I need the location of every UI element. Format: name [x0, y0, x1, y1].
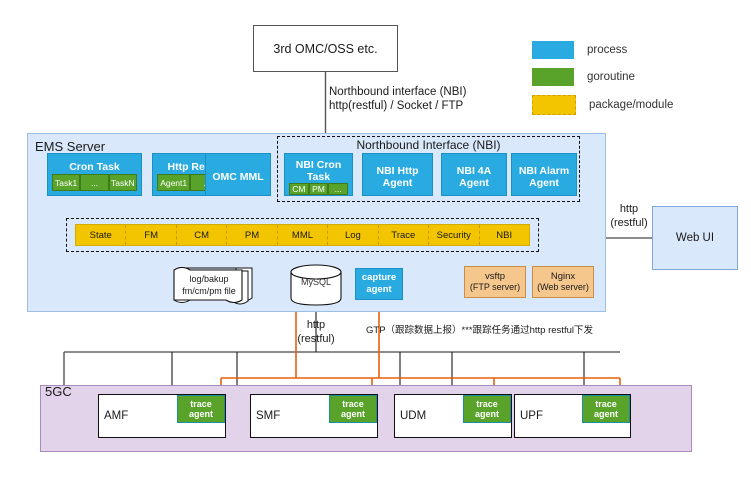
nf-smf-label: SMF: [256, 410, 280, 422]
third-party-omc-oss-box[interactable]: 3rd OMC/OSS etc.: [253, 25, 398, 72]
process-nbi-alarm-agent[interactable]: NBI Alarm Agent: [511, 153, 577, 196]
nf-amf-label: AMF: [104, 410, 128, 422]
module-bar: State FM CM PM MML Log Trace Security NB…: [75, 224, 530, 246]
legend-item-goroutine: goroutine: [532, 68, 742, 86]
goroutine-task1[interactable]: Task1: [52, 174, 80, 191]
module-security[interactable]: Security: [429, 225, 479, 245]
nginx-name: Nginx: [551, 271, 575, 282]
third-party-omc-oss-label: 3rd OMC/OSS etc.: [273, 42, 377, 56]
vsftp-role: (FTP server): [470, 282, 520, 293]
legend: process goroutine package/module: [532, 41, 742, 124]
vsftp-server-box[interactable]: vsftp (FTP server): [464, 266, 526, 298]
file-label-line2: fm/cm/pm file: [182, 285, 236, 297]
diagram-canvas: 3rd OMC/OSS etc. Northbound interface (N…: [0, 0, 751, 481]
legend-swatch-process: [532, 41, 574, 59]
file-storage-stack: log/bakup fm/cm/pm file: [172, 264, 254, 306]
module-mml[interactable]: MML: [278, 225, 328, 245]
file-label-line1: log/bakup: [189, 273, 228, 285]
goroutine-row-nbi-cron-task: CM PM ...: [289, 183, 348, 195]
process-nbi-http-agent[interactable]: NBI Http Agent: [362, 153, 433, 196]
nbi-link-line1: Northbound interface (NBI): [329, 85, 544, 99]
mysql-database: MySQL: [288, 264, 344, 306]
trace-agent-udm[interactable]: trace agent: [463, 395, 511, 423]
trace-agent-upf-line1: trace: [595, 399, 617, 409]
module-nbi[interactable]: NBI: [480, 225, 529, 245]
nf-udm-label: UDM: [400, 410, 426, 422]
web-ui-label: Web UI: [676, 232, 714, 244]
legend-label-package: package/module: [589, 99, 673, 111]
webui-link-label: http (restful): [605, 202, 653, 230]
goroutine-pm[interactable]: PM: [309, 183, 329, 195]
web-ui-box[interactable]: Web UI: [652, 206, 738, 270]
trace-agent-upf-line2: agent: [594, 409, 618, 419]
file-storage-labels: log/bakup fm/cm/pm file: [176, 267, 242, 303]
trace-agent-udm-line1: trace: [476, 399, 498, 409]
northbound-interface-link-label: Northbound interface (NBI) http(restful)…: [329, 85, 544, 113]
process-omc-mml[interactable]: OMC MML: [205, 153, 271, 196]
trace-agent-amf[interactable]: trace agent: [177, 395, 225, 423]
process-nbi-4a-agent-label: NBI 4A Agent: [442, 154, 506, 195]
mysql-label: MySQL: [288, 277, 344, 287]
nbi-group-title: Northbound Interface (NBI): [277, 138, 580, 152]
process-nbi-cron-task[interactable]: NBI Cron Task CM PM ...: [284, 153, 353, 196]
process-nbi-4a-agent[interactable]: NBI 4A Agent: [441, 153, 507, 196]
goroutine-task-ellipsis: ...: [80, 174, 108, 191]
trace-agent-udm-line2: agent: [475, 409, 499, 419]
process-omc-mml-label: OMC MML: [206, 154, 270, 195]
process-cron-task-label: Cron Task: [48, 154, 141, 174]
webui-link-line2: (restful): [605, 216, 653, 230]
nginx-server-box[interactable]: Nginx (Web server): [532, 266, 594, 298]
southbound-http-line1: http: [287, 318, 345, 332]
vsftp-name: vsftp: [485, 271, 505, 282]
goroutine-nbi-ellipsis: ...: [328, 183, 348, 195]
goroutine-cm[interactable]: CM: [289, 183, 309, 195]
capture-agent-line2: agent: [366, 284, 391, 296]
trace-agent-smf-line1: trace: [342, 399, 364, 409]
module-trace[interactable]: Trace: [379, 225, 429, 245]
legend-label-process: process: [587, 44, 627, 56]
process-nbi-http-agent-label: NBI Http Agent: [363, 154, 432, 195]
process-nbi-alarm-agent-label: NBI Alarm Agent: [512, 154, 576, 195]
goroutine-row-cron-task: Task1 ... TaskN: [52, 174, 137, 191]
nginx-role: (Web server): [537, 282, 589, 293]
module-log[interactable]: Log: [328, 225, 378, 245]
module-cm[interactable]: CM: [177, 225, 227, 245]
southbound-http-label: http (restful): [287, 318, 345, 346]
nf-upf-label: UPF: [520, 410, 543, 422]
capture-agent-line1: capture: [362, 272, 396, 284]
module-fm[interactable]: FM: [126, 225, 176, 245]
module-pm[interactable]: PM: [227, 225, 277, 245]
legend-item-process: process: [532, 41, 742, 59]
trace-agent-amf-line1: trace: [190, 399, 212, 409]
legend-swatch-package: [532, 95, 576, 115]
legend-swatch-goroutine: [532, 68, 574, 86]
capture-agent-process[interactable]: capture agent: [355, 268, 403, 300]
nf-node-upf[interactable]: UPF trace agent: [514, 394, 631, 438]
module-state[interactable]: State: [76, 225, 126, 245]
ems-server-title: EMS Server: [35, 139, 105, 154]
goroutine-agent1[interactable]: Agent1: [157, 174, 190, 191]
gtp-annotation: GTP（跟踪数据上报）***跟踪任务通过http restful下发: [366, 322, 696, 336]
legend-label-goroutine: goroutine: [587, 71, 635, 83]
nbi-link-line2: http(restful) / Socket / FTP: [329, 99, 544, 113]
trace-agent-smf[interactable]: trace agent: [329, 395, 377, 423]
nf-node-smf[interactable]: SMF trace agent: [250, 394, 378, 438]
trace-agent-upf[interactable]: trace agent: [582, 395, 630, 423]
goroutine-taskn[interactable]: TaskN: [109, 174, 137, 191]
southbound-http-line2: (restful): [287, 332, 345, 346]
trace-agent-amf-line2: agent: [189, 409, 213, 419]
process-nbi-cron-task-label: NBI Cron Task: [285, 154, 352, 183]
process-cron-task[interactable]: Cron Task Task1 ... TaskN: [47, 153, 142, 196]
legend-item-package: package/module: [532, 95, 742, 115]
nf-node-udm[interactable]: UDM trace agent: [394, 394, 512, 438]
trace-agent-smf-line2: agent: [341, 409, 365, 419]
fgc-title: 5GC: [45, 384, 72, 399]
webui-link-line1: http: [605, 202, 653, 216]
nf-node-amf[interactable]: AMF trace agent: [98, 394, 226, 438]
